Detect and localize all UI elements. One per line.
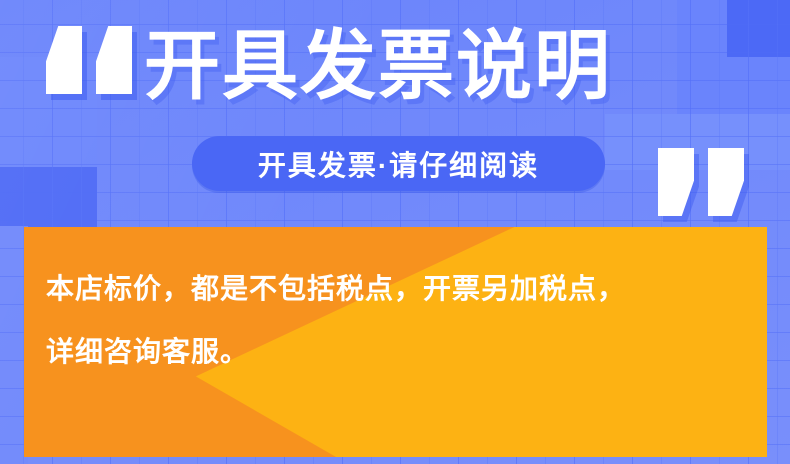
page-title: 开具发票说明 (144, 21, 612, 113)
subtitle-pill: 开具发票·请仔细阅读 (192, 136, 605, 191)
notice-panel-text: 本店标价，都是不包括税点，开票另加税点， 详细咨询客服。 (46, 257, 751, 383)
quote-close-icon (658, 148, 744, 216)
quote-close-mark-right (708, 148, 744, 216)
notice-panel: 本店标价，都是不包括税点，开票另加税点， 详细咨询客服。 (24, 227, 767, 457)
quote-open-mark-right (96, 26, 132, 94)
quote-close-mark-left (658, 148, 694, 216)
invoice-notice-banner: 开具发票说明 开具发票·请仔细阅读 本店标价，都是不包括税点，开票另加税点， 详… (0, 0, 790, 464)
notice-line-2: 详细咨询客服。 (46, 320, 751, 383)
quote-open-mark-left (46, 26, 82, 94)
quote-open-icon (46, 26, 132, 94)
subtitle-pill-label: 开具发票·请仔细阅读 (258, 144, 539, 184)
notice-line-1: 本店标价，都是不包括税点，开票另加税点， (46, 257, 751, 320)
